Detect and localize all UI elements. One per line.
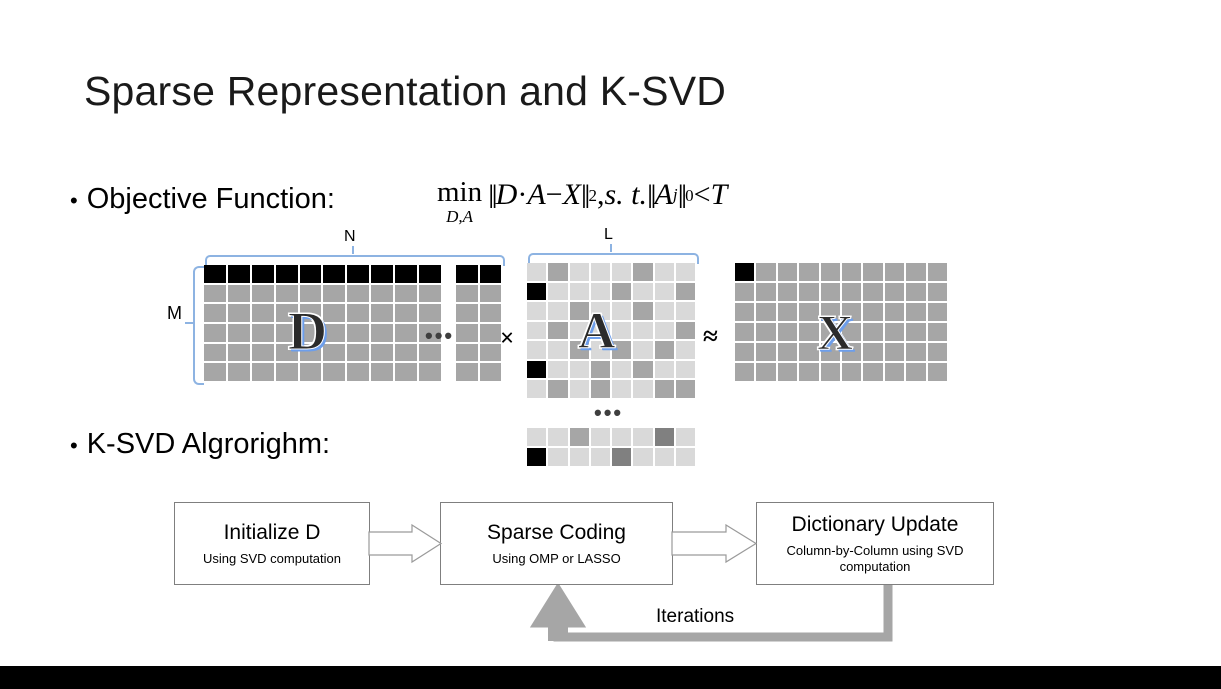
objective-equation: min D,A ‖ D · A − X ‖ 2 , s. t. ‖ A j ‖ …: [437, 178, 727, 225]
equation-minus-operator: −: [546, 178, 563, 212]
matrix-x-cell: [756, 283, 775, 301]
matrix-x-cell: [821, 283, 840, 301]
matrix-a-cell: [676, 448, 695, 466]
matrix-d-cell: [347, 265, 369, 283]
iterations-label: Iterations: [656, 606, 734, 628]
matrix-d-cell: [395, 363, 417, 381]
equation-term-aj: A: [655, 178, 673, 212]
multiply-operator-icon: ×: [500, 325, 514, 353]
matrix-d-cell: [347, 324, 369, 342]
matrix-a-cell: [676, 428, 695, 446]
matrix-a-cell: [527, 283, 546, 301]
matrix-x-cell: [928, 363, 947, 381]
matrix-a-cell: [655, 341, 674, 359]
matrix-d-cell: [204, 324, 226, 342]
matrix-x-cell: [799, 283, 818, 301]
bullet-algorithm-label: K-SVD Algrorighm:: [87, 428, 330, 461]
matrix-a-cell: [527, 302, 546, 320]
matrix-d-cell: [300, 265, 322, 283]
matrix-a-cell: [612, 302, 631, 320]
matrix-d-cell: [204, 265, 226, 283]
matrix-a-cell: [612, 263, 631, 281]
matrix-x-cell: [821, 363, 840, 381]
matrix-x-cell: [885, 363, 904, 381]
matrix-x-cell: [756, 263, 775, 281]
matrix-a-cell: [570, 283, 589, 301]
bullet-objective-function: • Objective Function:: [70, 183, 335, 216]
matrix-d-cell: [204, 304, 226, 322]
matrix-d-letter: D: [288, 304, 327, 358]
matrix-d-cell: [228, 324, 250, 342]
matrix-d-cell: [204, 285, 226, 303]
matrix-d-cell: [252, 285, 274, 303]
bracket-l: [528, 253, 699, 264]
flow-step-sparse-coding[interactable]: Sparse Coding Using OMP or LASSO: [440, 502, 673, 585]
matrix-d-cell: [300, 304, 322, 322]
matrix-a-cell: [527, 380, 546, 398]
matrix-d-cell: [323, 285, 345, 303]
matrix-x-cell: [906, 343, 925, 361]
flow-arrow-sparse-to-dict: [671, 524, 759, 564]
matrix-a-cell: [676, 283, 695, 301]
matrix-x-cell: [885, 263, 904, 281]
slide-canvas: Sparse Representation and K-SVD • Object…: [0, 0, 1221, 689]
matrix-x-cell: [799, 323, 818, 341]
matrix-a-cell: [548, 302, 567, 320]
flow-step-initialize-d[interactable]: Initialize D Using SVD computation: [174, 502, 370, 585]
matrix-x-cell: [863, 283, 882, 301]
matrix-x-cell: [735, 263, 754, 281]
matrix-d-ellipsis: •••: [425, 323, 454, 349]
matrix-a-cell: [612, 361, 631, 379]
matrix-d-cell: [456, 344, 478, 362]
matrix-d-cell: [204, 344, 226, 362]
matrix-x-cell: [928, 323, 947, 341]
matrix-a-cell: [548, 428, 567, 446]
matrix-x-cell: [928, 303, 947, 321]
matrix-d-cell: [480, 265, 502, 283]
matrix-x-cell: [863, 363, 882, 381]
matrix-d-cell: [323, 304, 345, 322]
matrix-x-cell: [735, 323, 754, 341]
matrix-d-cell: [347, 363, 369, 381]
matrix-a-cell: [548, 322, 567, 340]
matrix-a-cell: [676, 302, 695, 320]
matrix-x-cell: [906, 303, 925, 321]
matrix-x-cell: [756, 323, 775, 341]
matrix-a-cell: [612, 380, 631, 398]
matrix-x-cell: [885, 303, 904, 321]
matrix-d-cell: [419, 324, 441, 342]
matrix-x-cell: [885, 343, 904, 361]
matrix-x-cell: [821, 263, 840, 281]
matrix-x-cell: [756, 303, 775, 321]
equation-comma: ,: [597, 178, 605, 212]
matrix-d-cell: [228, 344, 250, 362]
matrix-d-cell: [419, 363, 441, 381]
matrix-d-cell: [456, 324, 478, 342]
matrix-d-cell: [480, 324, 502, 342]
matrix-d-tail-grid: [456, 265, 501, 381]
matrix-a-cell: [570, 361, 589, 379]
matrix-a-cell: [591, 448, 610, 466]
matrix-d-cell: [204, 363, 226, 381]
matrix-d-cell: [300, 285, 322, 303]
matrix-a-cell: [655, 428, 674, 446]
matrix-d-cell: [371, 344, 393, 362]
matrix-a-cell: [527, 428, 546, 446]
matrix-a-cell: [612, 448, 631, 466]
matrix-a-cell: [591, 361, 610, 379]
matrix-a-cell: [633, 263, 652, 281]
matrix-x-cell: [735, 363, 754, 381]
matrix-a-cell: [612, 322, 631, 340]
matrix-a-cell: [548, 341, 567, 359]
matrix-a-cell: [633, 283, 652, 301]
matrix-d-cell: [276, 304, 298, 322]
equation-dot-operator: ·: [517, 178, 527, 212]
flow-step-title: Sparse Coding: [487, 521, 626, 544]
approx-operator-icon: ≈: [703, 321, 718, 352]
matrix-x-cell: [799, 303, 818, 321]
matrix-a-cell: [655, 361, 674, 379]
matrix-d-cell: [419, 265, 441, 283]
equation-term-d: D: [496, 178, 518, 212]
matrix-x-grid: [735, 263, 947, 381]
bracket-n-tick: [352, 246, 354, 254]
matrix-d-cell: [276, 363, 298, 381]
matrix-d-main-grid: [204, 265, 441, 381]
matrix-a-cell: [655, 322, 674, 340]
matrix-x-cell: [778, 263, 797, 281]
matrix-d-cell: [252, 324, 274, 342]
matrix-d-cell: [371, 324, 393, 342]
matrix-a-cell: [633, 361, 652, 379]
equation-threshold-t: T: [711, 178, 728, 212]
equation-term-x: X: [563, 178, 581, 212]
matrix-d-cell: [395, 324, 417, 342]
matrix-a-cell: [527, 263, 546, 281]
matrix-a-cell: [570, 263, 589, 281]
bullet-marker-icon: •: [70, 190, 78, 212]
matrix-a-cell: [612, 341, 631, 359]
norm-bar-open: ‖: [488, 179, 496, 217]
matrix-a-cell: [570, 428, 589, 446]
matrix-a-cell: [591, 428, 610, 446]
matrix-a-cell: [548, 283, 567, 301]
matrix-d-cell: [456, 265, 478, 283]
matrix-d-cell: [252, 304, 274, 322]
bullet-ksvd-algorithm: • K-SVD Algrorighm:: [70, 428, 330, 461]
dimension-label-l: L: [604, 226, 613, 244]
equation-term-a: A: [527, 178, 545, 212]
matrix-d-cell: [371, 363, 393, 381]
matrix-x-cell: [735, 283, 754, 301]
matrix-x-cell: [842, 263, 861, 281]
matrix-a-cell: [676, 361, 695, 379]
bracket-m-tick: [185, 322, 193, 324]
norm-subscript-0: 0: [685, 186, 694, 206]
matrix-x-cell: [842, 303, 861, 321]
matrix-a-cell: [655, 263, 674, 281]
matrix-a-cell: [548, 380, 567, 398]
matrix-d-cell: [456, 304, 478, 322]
matrix-d-cell: [395, 344, 417, 362]
norm-subscript-2: 2: [588, 186, 597, 206]
matrix-a-cell: [527, 322, 546, 340]
matrix-d-cell: [300, 363, 322, 381]
matrix-d-cell: [419, 285, 441, 303]
flow-step-dictionary-update[interactable]: Dictionary Update Column-by-Column using…: [756, 502, 994, 585]
matrix-d-cell: [276, 265, 298, 283]
matrix-a-cell: [591, 263, 610, 281]
matrix-a-cell: [548, 448, 567, 466]
matrix-a-cell: [633, 341, 652, 359]
matrix-x-cell: [928, 283, 947, 301]
matrix-x-cell: [842, 343, 861, 361]
flow-step-title: Initialize D: [224, 521, 321, 544]
matrix-a-ellipsis: •••: [594, 400, 623, 426]
flow-step-subtitle: Column-by-Column using SVD computation: [765, 543, 985, 575]
matrix-d-cell: [276, 344, 298, 362]
matrix-x-cell: [906, 263, 925, 281]
flow-step-subtitle: Using OMP or LASSO: [492, 551, 620, 567]
bracket-m: [193, 266, 204, 385]
slide-bottom-bar: [0, 666, 1221, 689]
matrix-a-cell: [655, 380, 674, 398]
matrix-a-cell: [676, 263, 695, 281]
min-op-subscript: D,A: [446, 208, 473, 225]
matrix-a-cell: [612, 283, 631, 301]
matrix-x-cell: [778, 323, 797, 341]
norm-bar-open-2: ‖: [647, 179, 655, 217]
flow-step-subtitle: Using SVD computation: [203, 551, 341, 567]
matrix-a-cell: [591, 380, 610, 398]
matrix-x-cell: [756, 343, 775, 361]
matrix-d-cell: [228, 285, 250, 303]
matrix-x-cell: [842, 283, 861, 301]
bullet-marker-icon: •: [70, 435, 78, 457]
equation-less-than: <: [694, 178, 711, 212]
matrix-a-cell: [591, 341, 610, 359]
matrix-x-cell: [906, 283, 925, 301]
matrix-x-cell: [885, 323, 904, 341]
matrix-x-cell: [842, 363, 861, 381]
norm-bar-close-2: ‖: [678, 179, 686, 217]
min-op-label: min: [437, 178, 482, 207]
matrix-a-cell: [570, 448, 589, 466]
matrix-a-cell: [633, 448, 652, 466]
matrix-a-cell: [548, 361, 567, 379]
matrix-a-cell: [676, 380, 695, 398]
matrix-x-cell: [885, 283, 904, 301]
matrix-a-cell: [570, 341, 589, 359]
matrix-x-cell: [863, 303, 882, 321]
matrix-a-cell: [655, 448, 674, 466]
equation-subject-to: s. t.: [604, 178, 647, 212]
matrix-d-cell: [347, 344, 369, 362]
matrix-a-cell: [570, 302, 589, 320]
matrix-d-cell: [252, 363, 274, 381]
matrix-d-cell: [347, 304, 369, 322]
matrix-x-cell: [778, 343, 797, 361]
matrix-a-cell: [527, 361, 546, 379]
matrix-d-cell: [419, 304, 441, 322]
matrix-x-cell: [863, 263, 882, 281]
matrix-x-cell: [863, 323, 882, 341]
matrix-x-cell: [799, 343, 818, 361]
matrix-a-cell: [570, 322, 589, 340]
matrix-x-cell: [799, 363, 818, 381]
matrix-a-cell: [612, 428, 631, 446]
matrix-x-cell: [906, 363, 925, 381]
matrix-a-cell: [633, 322, 652, 340]
matrix-x-cell: [778, 363, 797, 381]
matrix-x-cell: [756, 363, 775, 381]
matrix-x-cell: [928, 263, 947, 281]
matrix-a-cell: [676, 322, 695, 340]
matrix-d-cell: [323, 324, 345, 342]
matrix-d-cell: [480, 285, 502, 303]
matrix-d-cell: [276, 324, 298, 342]
matrix-a-cell: [591, 283, 610, 301]
matrix-d-cell: [371, 265, 393, 283]
matrix-x-cell: [928, 343, 947, 361]
matrix-d-cell: [252, 344, 274, 362]
matrix-a-cell: [633, 380, 652, 398]
matrix-a-cell: [655, 302, 674, 320]
matrix-a-cell: [548, 263, 567, 281]
matrix-d-cell: [347, 285, 369, 303]
matrix-d-cell: [228, 304, 250, 322]
matrix-x-cell: [863, 343, 882, 361]
matrix-d-cell: [323, 363, 345, 381]
matrix-x-cell: [842, 323, 861, 341]
matrix-a-cell: [676, 341, 695, 359]
dimension-label-m: M: [167, 303, 182, 324]
matrix-d-cell: [371, 304, 393, 322]
matrix-a-cell: [527, 448, 546, 466]
matrix-a-main-grid: [527, 263, 695, 398]
matrix-d-cell: [323, 344, 345, 362]
matrix-x-cell: [778, 283, 797, 301]
matrix-d-cell: [371, 285, 393, 303]
bracket-l-tick: [610, 244, 612, 252]
matrix-a-letter: A: [578, 306, 616, 358]
matrix-d-cell: [480, 344, 502, 362]
page-title: Sparse Representation and K-SVD: [84, 68, 726, 115]
matrix-d-cell: [395, 304, 417, 322]
matrix-d-cell: [456, 363, 478, 381]
matrix-x-cell: [735, 303, 754, 321]
matrix-x-cell: [821, 303, 840, 321]
matrix-a-cell: [633, 302, 652, 320]
matrix-d-cell: [276, 285, 298, 303]
flow-arrow-init-to-sparse: [368, 524, 444, 564]
matrix-a-tail-grid: [527, 428, 695, 466]
matrix-d-cell: [300, 344, 322, 362]
matrix-d-cell: [300, 324, 322, 342]
matrix-a-cell: [570, 380, 589, 398]
dimension-label-n: N: [344, 228, 356, 246]
bracket-n: [205, 255, 505, 266]
matrix-d-cell: [395, 265, 417, 283]
matrix-d-cell: [252, 265, 274, 283]
matrix-x-cell: [735, 343, 754, 361]
matrix-x-cell: [778, 303, 797, 321]
matrix-x-cell: [821, 343, 840, 361]
matrix-a-cell: [527, 341, 546, 359]
matrix-d-cell: [456, 285, 478, 303]
matrix-x-cell: [821, 323, 840, 341]
matrix-x-letter: X: [817, 307, 853, 357]
bullet-objective-label: Objective Function:: [87, 183, 335, 216]
matrix-a-cell: [591, 322, 610, 340]
min-operator: min D,A: [437, 178, 482, 225]
matrix-d-cell: [228, 265, 250, 283]
matrix-x-cell: [906, 323, 925, 341]
matrix-d-cell: [395, 285, 417, 303]
matrix-d-cell: [419, 344, 441, 362]
matrix-x-cell: [799, 263, 818, 281]
flow-step-title: Dictionary Update: [792, 513, 959, 536]
matrix-a-cell: [633, 428, 652, 446]
matrix-d-cell: [323, 265, 345, 283]
matrix-d-cell: [480, 304, 502, 322]
matrix-d-cell: [480, 363, 502, 381]
matrix-a-cell: [655, 283, 674, 301]
matrix-a-cell: [591, 302, 610, 320]
matrix-d-cell: [228, 363, 250, 381]
norm-bar-close: ‖: [581, 179, 589, 217]
